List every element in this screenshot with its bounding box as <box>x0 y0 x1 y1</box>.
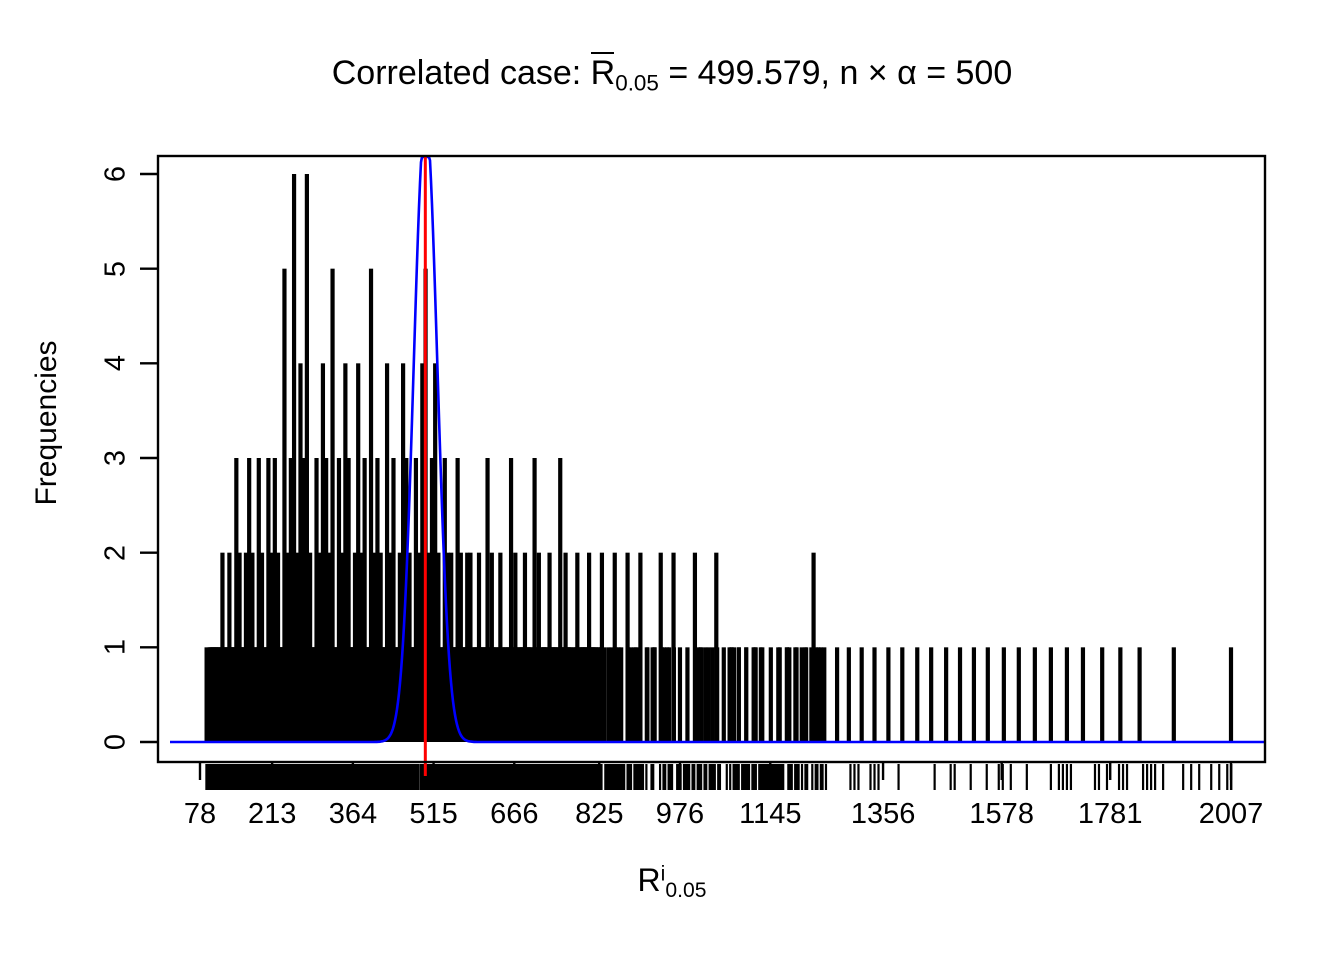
histogram-bar <box>886 647 890 742</box>
histogram-bar <box>722 647 726 742</box>
y-axis-tick-label: 0 <box>100 734 133 750</box>
histogram-bar <box>600 553 604 742</box>
histogram-bar <box>625 553 629 742</box>
histogram-bar <box>498 553 502 742</box>
histogram-bar <box>638 553 642 742</box>
histogram-bar <box>847 647 851 742</box>
histogram-bar <box>776 647 780 742</box>
y-axis-tick-label: 2 <box>100 545 133 561</box>
histogram-bar <box>800 647 804 742</box>
histogram-bar <box>944 647 948 742</box>
y-axis-tick-label: 4 <box>100 355 133 371</box>
histogram-bar <box>606 647 610 742</box>
x-axis-tick-label: 1781 <box>1078 798 1143 831</box>
histogram-bar <box>753 647 757 742</box>
histogram-bar <box>678 647 682 742</box>
x-axis-tick-label: 213 <box>248 798 296 831</box>
histogram-bar <box>1229 647 1233 742</box>
histogram-bar <box>803 647 807 742</box>
histogram-bar <box>231 647 235 742</box>
histogram-bar <box>632 647 636 742</box>
histogram-bars <box>205 174 1234 742</box>
histogram-bar <box>685 647 689 742</box>
histogram-bar <box>569 647 573 742</box>
histogram-bar <box>1118 647 1122 742</box>
x-axis-tick-label: 976 <box>656 798 704 831</box>
histogram-bar <box>537 553 541 742</box>
histogram-bar <box>665 647 669 742</box>
x-axis-tick-label: 78 <box>184 798 216 831</box>
y-axis-ticks <box>140 174 158 742</box>
histogram-bar <box>485 458 489 742</box>
histogram-bar <box>468 553 472 742</box>
x-axis-tick-label: 1578 <box>969 798 1034 831</box>
histogram-bar <box>509 458 513 742</box>
histogram-bar <box>972 647 976 742</box>
histogram-bar <box>714 553 718 742</box>
histogram-bar <box>581 647 585 742</box>
histogram-bar <box>523 553 527 742</box>
histogram-bar <box>481 647 485 742</box>
histogram-bar <box>513 553 517 742</box>
histogram-bar <box>652 647 656 742</box>
histogram-bar <box>860 647 864 742</box>
histogram-bar <box>1081 647 1085 742</box>
histogram-bar <box>518 647 522 742</box>
x-axis-tick-label: 515 <box>409 798 457 831</box>
histogram-bar <box>1138 647 1142 742</box>
y-axis-tick-label: 3 <box>100 450 133 466</box>
histogram-bar <box>1065 647 1069 742</box>
histogram-bar <box>744 647 748 742</box>
y-axis-tick-label: 1 <box>100 639 133 655</box>
x-axis-tick-label: 1356 <box>851 798 916 831</box>
histogram-bar <box>542 647 546 742</box>
histogram-bar <box>915 647 919 742</box>
x-axis-tick-label: 666 <box>490 798 538 831</box>
histogram-bar <box>929 647 933 742</box>
histogram-bar <box>822 647 826 742</box>
histogram-bar <box>494 647 498 742</box>
histogram-bar <box>224 647 228 742</box>
histogram-bar <box>729 647 733 742</box>
histogram-bar <box>473 647 477 742</box>
rug-plot <box>206 764 1231 790</box>
histogram-bar <box>216 647 220 742</box>
histogram-bar <box>619 647 623 742</box>
histogram-bar <box>208 647 212 742</box>
histogram-bar <box>504 647 508 742</box>
histogram-bar <box>547 553 551 742</box>
histogram-bar <box>563 553 567 742</box>
histogram-bar <box>785 647 789 742</box>
x-axis-tick-label: 2007 <box>1199 798 1264 831</box>
histogram-bar <box>703 647 707 742</box>
histogram-bar <box>711 647 715 742</box>
histogram-bar <box>553 647 557 742</box>
histogram-bar <box>575 553 579 742</box>
histogram-bar <box>793 647 797 742</box>
histogram-bar <box>958 647 962 742</box>
histogram-bar <box>593 647 597 742</box>
histogram-bar <box>671 553 675 742</box>
histogram-bar <box>1049 647 1053 742</box>
histogram-bar <box>835 647 839 742</box>
histogram-bar <box>769 647 773 742</box>
histogram-bar <box>587 553 591 742</box>
histogram-bar <box>1017 647 1021 742</box>
x-axis-tick-label: 364 <box>329 798 377 831</box>
chart-figure: Correlated case: R0.05 = 499.579, n × α … <box>0 0 1344 960</box>
histogram-bar <box>760 647 764 742</box>
y-axis-tick-label: 5 <box>100 261 133 277</box>
histogram-bar <box>527 647 531 742</box>
histogram-bar <box>737 647 741 742</box>
histogram-bar <box>1172 647 1176 742</box>
histogram-bar <box>693 553 697 742</box>
histogram-bar <box>699 647 703 742</box>
histogram-bar <box>659 553 663 742</box>
histogram-bar <box>986 647 990 742</box>
histogram-bar <box>1033 647 1037 742</box>
histogram-bar <box>811 553 815 742</box>
histogram-bar <box>1002 647 1006 742</box>
histogram-bar <box>707 647 711 742</box>
histogram-bar <box>532 458 536 742</box>
histogram-bar <box>490 553 494 742</box>
histogram-bar <box>558 458 562 742</box>
histogram-bar <box>212 647 216 742</box>
histogram-bar <box>477 553 481 742</box>
histogram-bar <box>900 647 904 742</box>
histogram-bar <box>872 647 876 742</box>
histogram-bar <box>1100 647 1104 742</box>
histogram-bar <box>613 553 617 742</box>
x-axis-tick-label: 825 <box>575 798 623 831</box>
x-axis-tick-label: 1145 <box>739 798 801 831</box>
histogram-bar <box>645 647 649 742</box>
y-axis-tick-label: 6 <box>100 166 133 182</box>
